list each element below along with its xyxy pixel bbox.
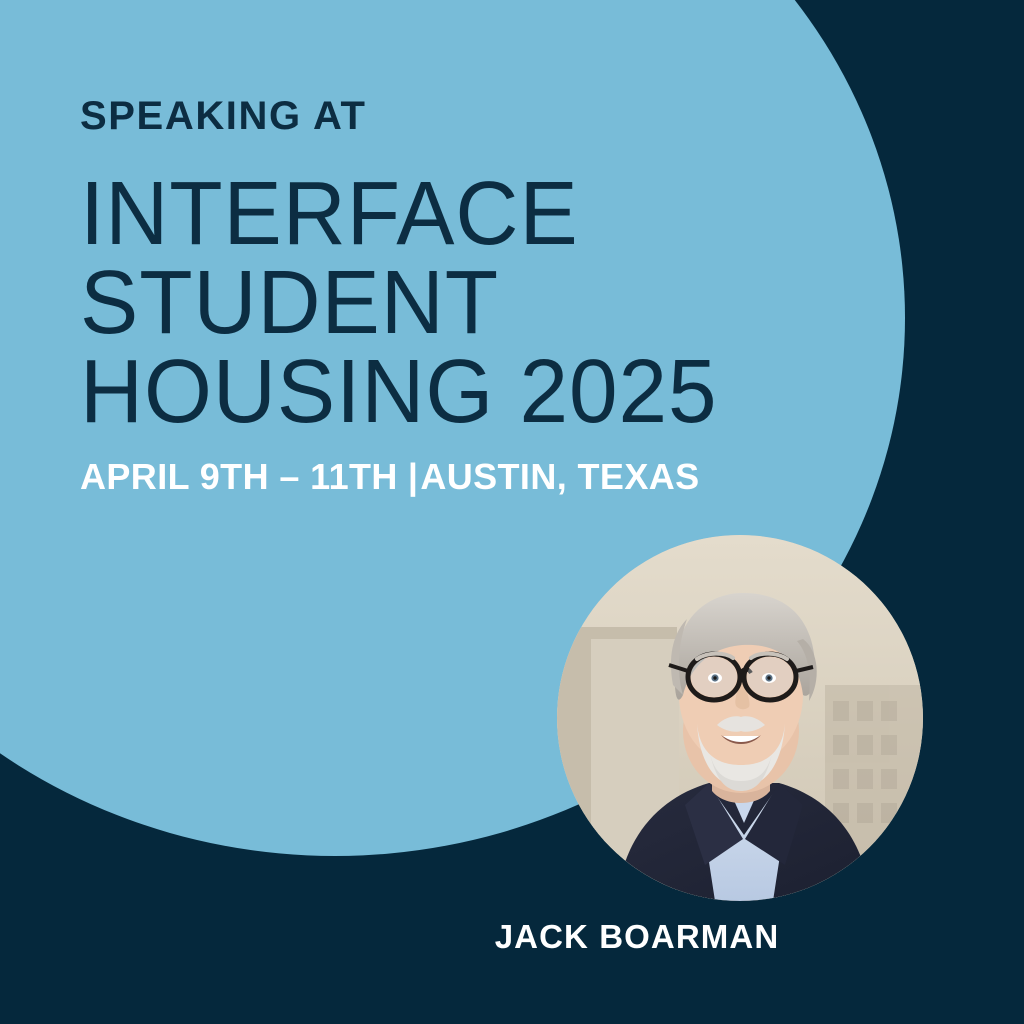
eyebrow-label: SPEAKING AT [80,96,960,136]
headline-line-3: HOUSING 2025 [80,348,934,437]
event-dates: APRIL 9TH – 11TH [80,456,398,497]
detail-separator: | [398,456,420,497]
avatar [557,535,923,901]
poster-text-block: SPEAKING AT INTERFACE STUDENT HOUSING 20… [80,96,960,497]
headline-line-1: INTERFACE [80,170,934,259]
event-details-line: APRIL 9TH – 11TH|AUSTIN, TEXAS [80,457,960,497]
page-title: INTERFACE STUDENT HOUSING 2025 [80,170,960,437]
event-location: AUSTIN, TEXAS [420,456,699,497]
headline-line-2: STUDENT [80,259,934,348]
portrait-illustration [557,535,923,901]
speaker-name-label: JACK BOARMAN [0,918,1024,956]
speaker-announcement-poster: SPEAKING AT INTERFACE STUDENT HOUSING 20… [0,0,1024,1024]
